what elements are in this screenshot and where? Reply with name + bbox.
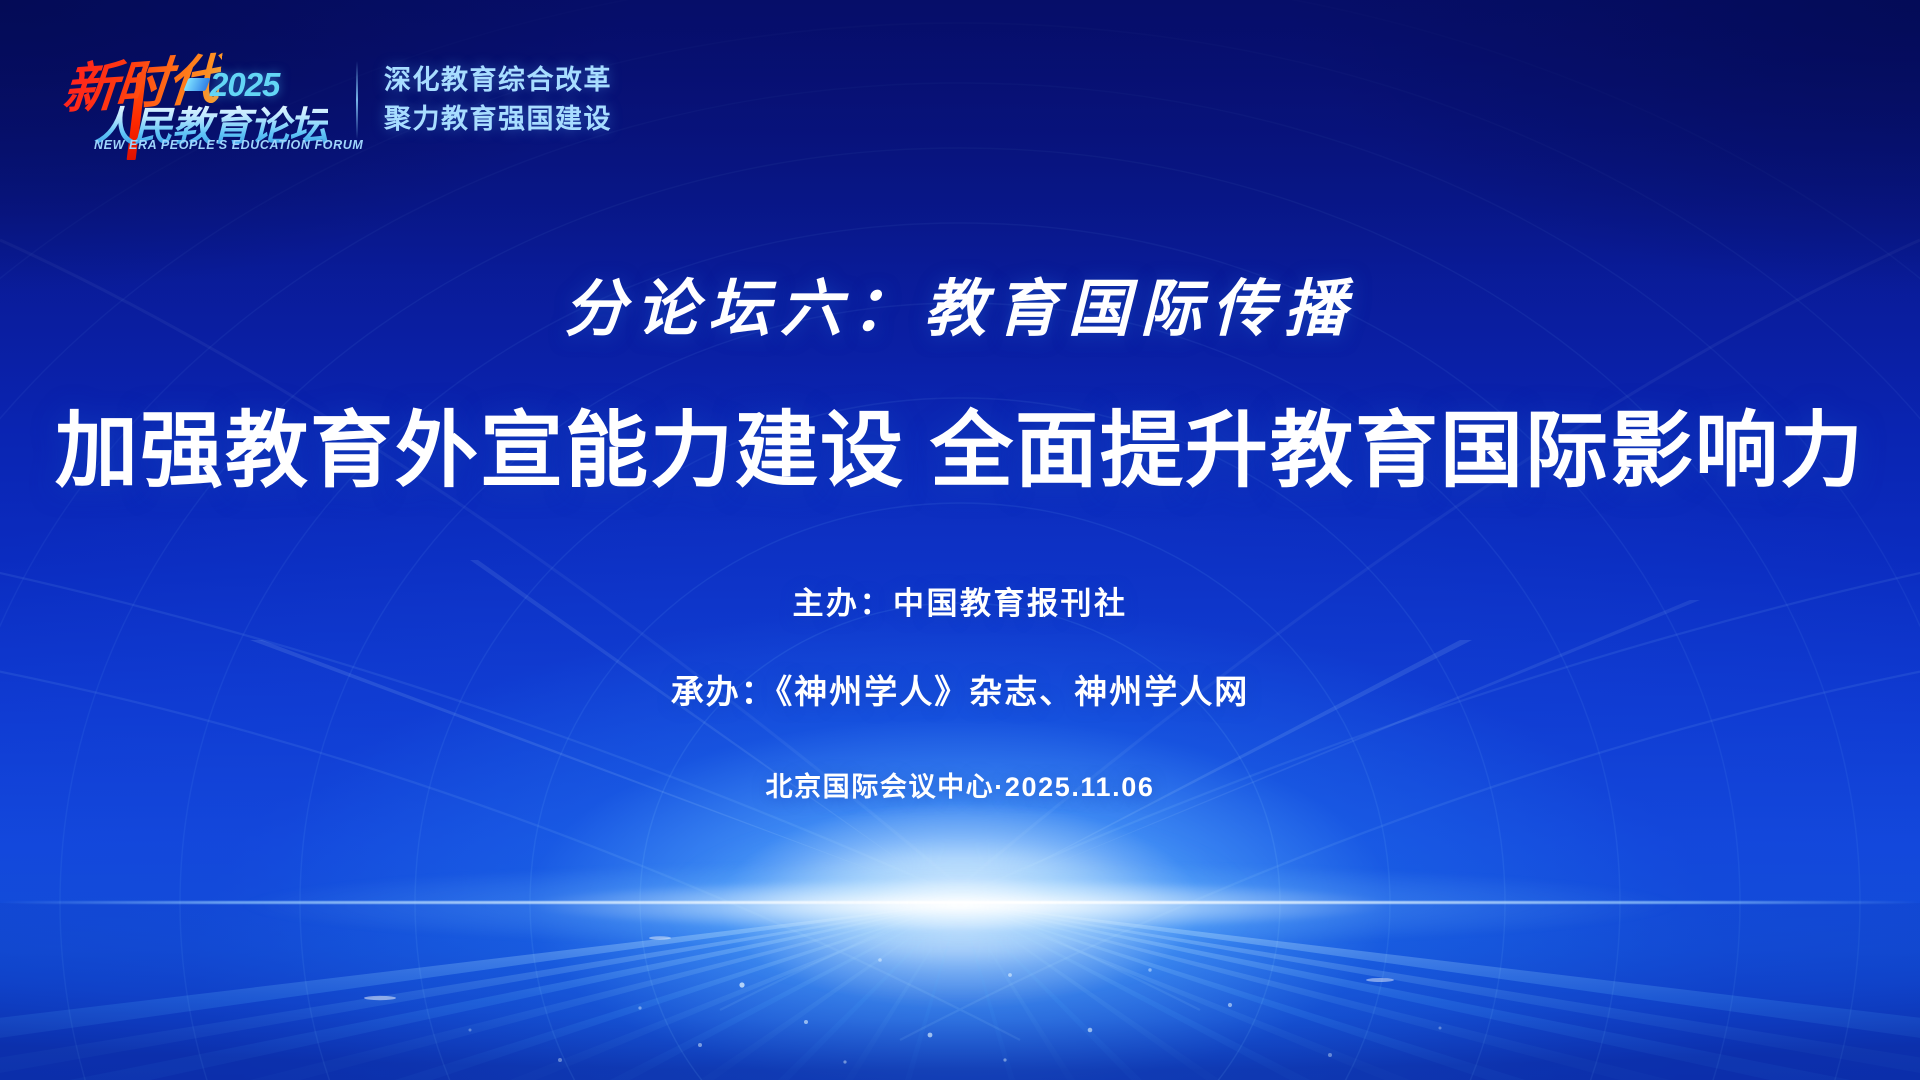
perspective-light-rays (0, 0, 1920, 1080)
forum-headline: 加强教育外宣能力建设 全面提升教育国际影响力 (0, 383, 1920, 503)
top-vignette (0, 0, 1920, 1080)
forum-logo: 新时代 2025 人民教育论坛 NEW ERA PEOPLE'S EDUCATI… (58, 44, 612, 156)
slogan-line-1: 深化教育综合改革 (384, 63, 612, 98)
logo-slogan: 深化教育综合改革 聚力教育强国建设 (384, 63, 612, 136)
credit-venue: 北京国际会议中心·2025.11.06 (0, 765, 1920, 804)
event-backdrop-poster: 新时代 2025 人民教育论坛 NEW ERA PEOPLE'S EDUCATI… (0, 0, 1920, 1080)
credit-host: 主办：中国教育报刊社 (0, 578, 1920, 623)
credits-block: 主办：中国教育报刊社 承办：《神州学人》杂志、神州学人网 北京国际会议中心·20… (0, 578, 1920, 804)
horizon-glow-band (0, 862, 1920, 948)
horizon-line (0, 901, 1920, 904)
slogan-line-2: 聚力教育强国建设 (384, 102, 612, 137)
concentric-arc-texture (0, 0, 1920, 1080)
particle-sparkles (0, 0, 1920, 1080)
credit-organizer: 承办：《神州学人》杂志、神州学人网 (0, 665, 1920, 713)
logo-mark: 新时代 2025 人民教育论坛 NEW ERA PEOPLE'S EDUCATI… (58, 44, 330, 156)
logo-divider (356, 61, 358, 139)
forum-subtitle: 分论坛六：教育国际传播 (0, 258, 1920, 348)
logo-name-en: NEW ERA PEOPLE'S EDUCATION FORUM (94, 138, 363, 152)
